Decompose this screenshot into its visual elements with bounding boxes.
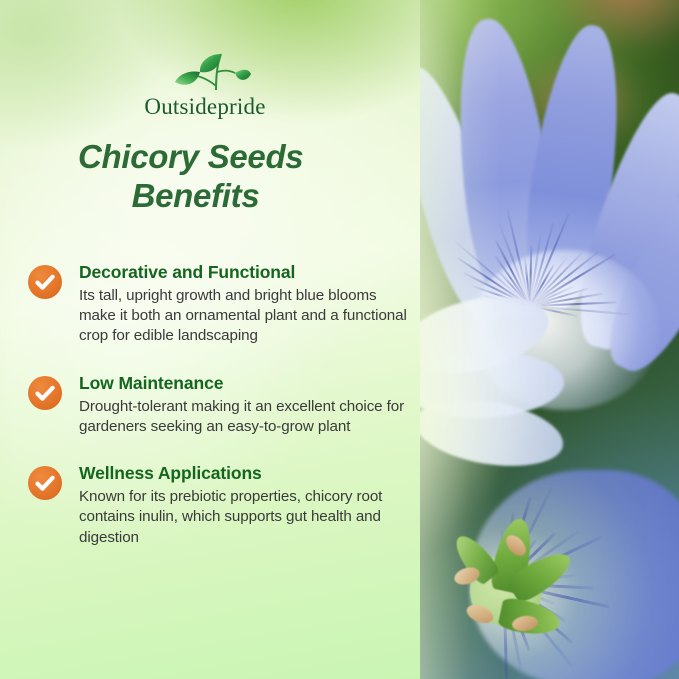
infographic-canvas: Outsidepride Chicory Seeds Benefits Deco… xyxy=(0,0,679,679)
three-leaf-sprig-icon xyxy=(140,42,270,94)
benefit-heading: Wellness Applications xyxy=(79,463,408,484)
title-line-2: Benefits xyxy=(78,177,313,216)
benefits-list: Decorative and Functional Its tall, upri… xyxy=(28,262,408,548)
list-item-body: Wellness Applications Known for its preb… xyxy=(79,463,408,548)
content-layer: Outsidepride Chicory Seeds Benefits Deco… xyxy=(0,0,679,679)
check-circle-icon xyxy=(28,376,62,410)
brand-logo: Outsidepride xyxy=(140,42,270,118)
brand-name: Outsidepride xyxy=(140,95,270,118)
benefit-description: Its tall, upright growth and bright blue… xyxy=(79,286,408,347)
benefit-heading: Decorative and Functional xyxy=(79,262,408,283)
list-item: Low Maintenance Drought-tolerant making … xyxy=(28,373,408,437)
list-item-body: Low Maintenance Drought-tolerant making … xyxy=(79,373,408,437)
check-circle-icon xyxy=(28,466,62,500)
title-line-1: Chicory Seeds xyxy=(78,138,303,175)
benefit-description: Known for its prebiotic properties, chic… xyxy=(79,487,408,548)
page-title: Chicory Seeds Benefits xyxy=(78,138,378,215)
benefit-heading: Low Maintenance xyxy=(79,373,408,394)
list-item: Decorative and Functional Its tall, upri… xyxy=(28,262,408,347)
benefit-description: Drought-tolerant making it an excellent … xyxy=(79,397,408,437)
check-circle-icon xyxy=(28,265,62,299)
list-item-body: Decorative and Functional Its tall, upri… xyxy=(79,262,408,347)
list-item: Wellness Applications Known for its preb… xyxy=(28,463,408,548)
